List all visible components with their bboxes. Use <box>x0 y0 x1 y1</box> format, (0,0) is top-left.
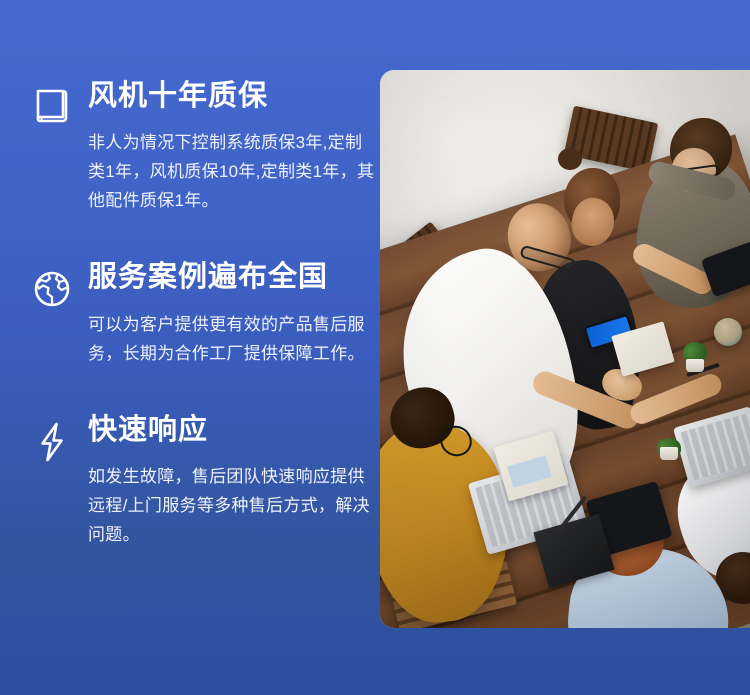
plant-pot <box>686 359 704 372</box>
potted-plant <box>682 342 708 372</box>
feature-description: 可以为客户提供更有效的产品售后服务，长期为合作工厂提供保障工作。 <box>88 310 376 368</box>
feature-item-fast-response: 快速响应 如发生故障，售后团队快速响应提供远程/上门服务等多种售后方式，解决问题… <box>0 412 380 549</box>
team-meeting-photo <box>380 70 750 628</box>
plant-pot <box>660 447 678 460</box>
feature-title: 快速响应 <box>88 412 380 448</box>
feature-item-nationwide-cases: 服务案例遍布全国 可以为客户提供更有效的产品售后服务，长期为合作工厂提供保障工作… <box>0 259 380 367</box>
potted-plant <box>656 438 674 460</box>
feature-text-block: 服务案例遍布全国 可以为客户提供更有效的产品售后服务，长期为合作工厂提供保障工作… <box>30 259 380 367</box>
photo-scene <box>380 70 750 628</box>
keyboard <box>680 414 750 481</box>
feature-item-warranty: 风机十年质保 非人为情况下控制系统质保3年,定制类1年，风机质保10年,定制类1… <box>0 78 380 215</box>
lightning-bolt-icon <box>30 420 74 464</box>
feature-text-block: 快速响应 如发生故障，售后团队快速响应提供远程/上门服务等多种售后方式，解决问题… <box>30 412 380 549</box>
globe-icon <box>30 267 74 311</box>
hair-bun <box>558 148 582 170</box>
feature-list: 风机十年质保 非人为情况下控制系统质保3年,定制类1年，风机质保10年,定制类1… <box>0 0 380 695</box>
coffee-cup <box>714 318 742 346</box>
feature-title: 风机十年质保 <box>88 78 380 114</box>
feature-description: 如发生故障，售后团队快速响应提供远程/上门服务等多种售后方式，解决问题。 <box>88 462 376 549</box>
book-icon <box>30 86 74 130</box>
after-sales-service-promo-panel: 风机十年质保 非人为情况下控制系统质保3年,定制类1年，风机质保10年,定制类1… <box>0 0 750 695</box>
feature-description: 非人为情况下控制系统质保3年,定制类1年，风机质保10年,定制类1年，其他配件质… <box>88 128 376 215</box>
feature-title: 服务案例遍布全国 <box>88 259 380 295</box>
feature-text-block: 风机十年质保 非人为情况下控制系统质保3年,定制类1年，风机质保10年,定制类1… <box>30 78 380 215</box>
